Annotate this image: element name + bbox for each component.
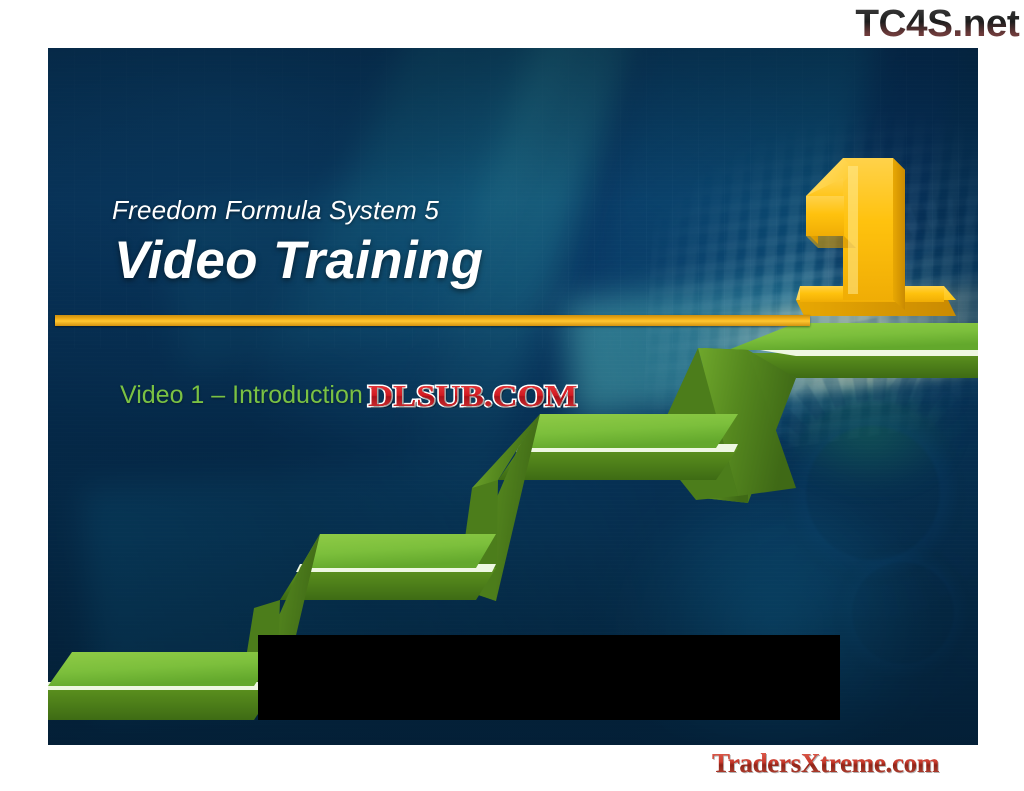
gold-divider xyxy=(55,315,810,326)
tc4s-watermark: TC4S.net xyxy=(856,0,1020,48)
slide-eyebrow: Freedom Formula System 5 xyxy=(112,195,439,226)
presentation-slide: Freedom Formula System 5 Video Training … xyxy=(48,48,978,745)
video-label: Video 1 – Introduction xyxy=(120,381,363,410)
redaction-box xyxy=(258,635,840,720)
dlsub-watermark: DLSUB.COM xyxy=(368,378,577,414)
tradersxtreme-watermark: TradersXtreme.com xyxy=(712,748,939,779)
page-title: Video Training xyxy=(114,230,483,291)
screenshot-root: TC4S.net TC4S.net xyxy=(0,0,1024,791)
